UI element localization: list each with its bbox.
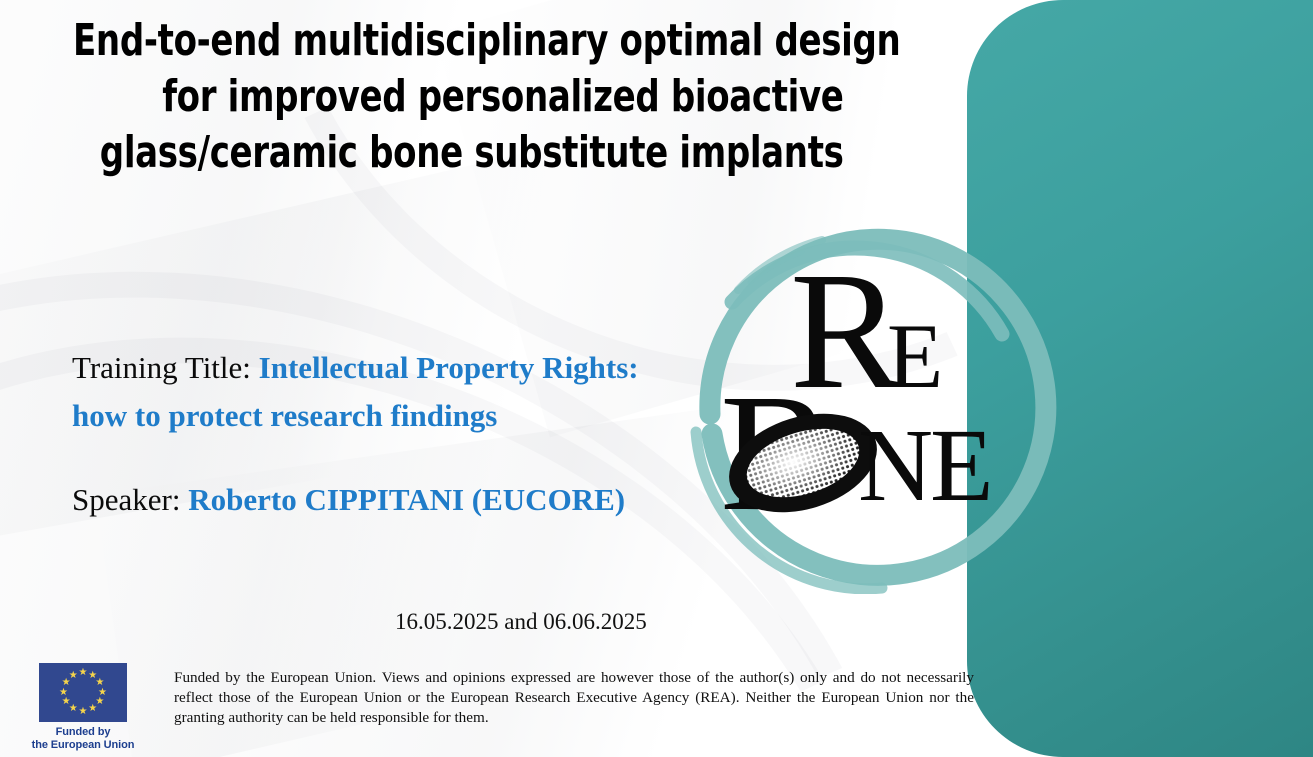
eu-star-icon: ★ [61, 697, 71, 707]
svg-text:N: N [858, 408, 932, 523]
eu-caption: Funded by the European Union [27, 726, 139, 752]
session-details: Training Title: Intellectual Property Ri… [72, 344, 692, 524]
eu-funding-emblem: ★★★★★★★★★★★★ Funded by the European Unio… [27, 660, 139, 752]
funding-disclaimer: Funded by the European Union. Views and … [174, 668, 974, 728]
logo-text-ne: N E [858, 408, 993, 523]
title-line-3: glass/ceramic bone substitute implants [73, 125, 847, 181]
event-dates: 16.05.2025 and 06.06.2025 [395, 609, 647, 635]
speaker-value: Roberto CIPPITANI (EUCORE) [188, 482, 625, 517]
svg-text:E: E [930, 408, 993, 523]
speaker-label: Speaker: [72, 482, 188, 517]
presentation-slide: End-to-end multidisciplinary optimal des… [0, 0, 1313, 757]
training-title-label: Training Title: [72, 350, 259, 385]
rebone-logo: R E B N E [672, 182, 1082, 594]
eu-flag: ★★★★★★★★★★★★ [39, 663, 127, 722]
svg-text:E: E [887, 305, 942, 407]
speaker-line: Speaker: Roberto CIPPITANI (EUCORE) [72, 476, 692, 524]
title-line-1: End-to-end multidisciplinary optimal des… [73, 13, 847, 69]
page-title: End-to-end multidisciplinary optimal des… [73, 13, 847, 181]
eu-star-icon: ★ [59, 688, 69, 698]
rebone-logo-svg: R E B N E [672, 182, 1082, 594]
title-line-2: for improved personalized bioactive [73, 69, 847, 125]
training-title-line: Training Title: Intellectual Property Ri… [72, 344, 692, 440]
eu-star-icon: ★ [88, 704, 98, 714]
eu-caption-line-1: Funded by [27, 726, 139, 739]
eu-star-icon: ★ [78, 707, 88, 717]
eu-caption-line-2: the European Union [27, 739, 139, 752]
eu-star-icon: ★ [68, 671, 78, 681]
eu-star-icon: ★ [78, 668, 88, 678]
